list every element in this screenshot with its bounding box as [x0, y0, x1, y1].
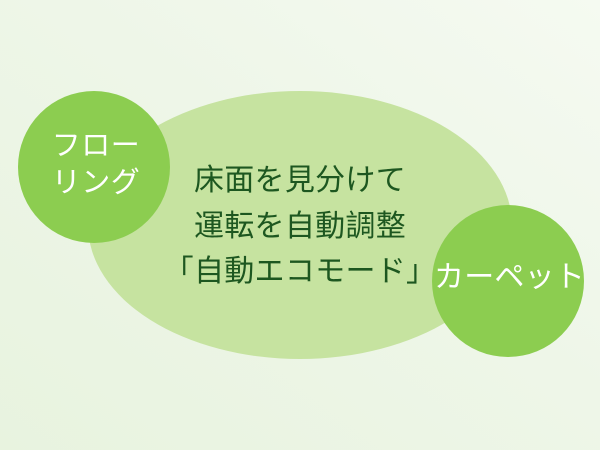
- slide-canvas: フロー リング 床面を見分けて 運転を自動調整 「自動エコモード」 カーペット: [0, 0, 600, 450]
- headline-line-1: 床面を見分けて: [150, 158, 450, 204]
- flooring-badge-line-2: リング: [40, 165, 152, 202]
- headline-line-2: 運転を自動調整: [150, 204, 450, 250]
- flooring-badge-label: フロー リング: [40, 128, 152, 202]
- headline-text: 床面を見分けて 運転を自動調整 「自動エコモード」: [150, 158, 450, 295]
- carpet-badge-label: カーペット: [434, 263, 585, 293]
- flooring-badge-line-1: フロー: [40, 128, 152, 165]
- headline-line-3: 「自動エコモード」: [150, 249, 450, 295]
